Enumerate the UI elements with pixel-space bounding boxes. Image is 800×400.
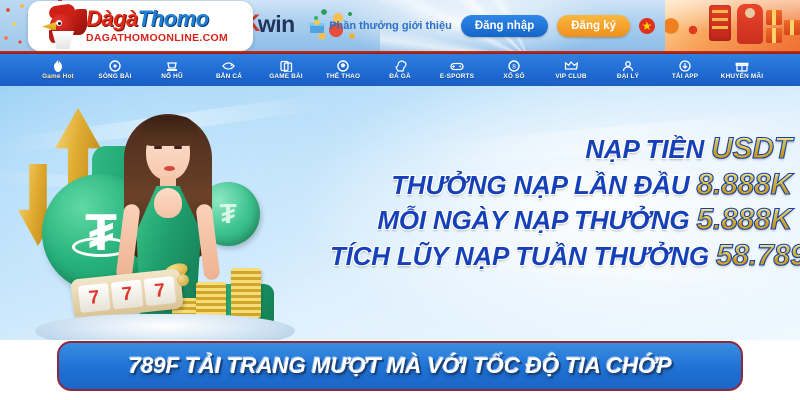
hero-banner: ₮ ₮ 7 7 7 N [0, 86, 800, 340]
tether-symbol: ₮ [219, 200, 236, 228]
main-navigation: Game Hot SÒNG BÀI NỔ HŨ BẮN CÁ GAME BÀI … [0, 54, 800, 86]
rooster-icon [33, 3, 85, 49]
nav-label: VIP CLUB [555, 73, 586, 80]
gold-coin-stack [231, 268, 261, 318]
nav-label: THỂ THAO [326, 73, 360, 80]
nav-item-no-hu[interactable]: NỔ HŨ [144, 54, 201, 86]
nav-item-e-sports[interactable]: E-SPORTS [429, 54, 486, 86]
nav-item-game-hot[interactable]: Game Hot [30, 54, 87, 86]
nav-item-game-bai[interactable]: GAME BÀI [258, 54, 315, 86]
register-button[interactable]: Đăng ký [557, 15, 630, 37]
slot-symbol: 7 [88, 287, 101, 307]
nav-item-da-ga[interactable]: ĐÁ GÀ [372, 54, 429, 86]
nav-label: NỔ HŨ [161, 73, 183, 80]
nav-item-khuyen-mai[interactable]: KHUYẾN MÃI [714, 54, 771, 86]
nav-item-song-bai[interactable]: SÒNG BÀI [87, 54, 144, 86]
fish-icon [222, 60, 236, 72]
promo-icon [735, 60, 749, 72]
site-logo[interactable]: DàgàThomo DAGATHOMOONLINE.COM [28, 1, 253, 51]
header-actions: Phần thưởng giới thiệu Đăng nhập Đăng ký [310, 0, 655, 52]
bottom-banner-title: 789F TẢI TRANG MƯỢT MÀ VỚI TỐC ĐỘ TIA CH… [129, 353, 672, 379]
logo-text-group: DàgàThomo DAGATHOMOONLINE.COM [86, 8, 228, 44]
gift-box-icon [784, 20, 800, 35]
nav-label: ĐẠI LÝ [617, 73, 639, 80]
slot-reel: 7 [111, 279, 144, 309]
nav-label: XỔ SỐ [503, 73, 524, 80]
referral-reward-link[interactable]: Phần thưởng giới thiệu [310, 20, 452, 33]
nav-label: E-SPORTS [440, 73, 474, 80]
nav-item-tai-app[interactable]: TẢI APP [657, 54, 714, 86]
zodiac-mascot-icon [737, 4, 763, 44]
promo-line-4-highlight: 58.789K [716, 239, 800, 272]
logo-wordmark: DàgàThomo [86, 8, 228, 30]
logo-wordmark-part2: Thomo [138, 6, 209, 31]
partner-brand-label: win [258, 11, 295, 38]
promo-line-1-highlight: USDT [711, 132, 792, 165]
cards-icon [279, 60, 293, 72]
login-button[interactable]: Đăng nhập [461, 15, 548, 37]
nav-label: TẢI APP [672, 73, 698, 80]
logo-wordmark-part1: Dàgà [86, 6, 138, 31]
gift-icon [310, 20, 324, 33]
bottom-title-banner: 789F TẢI TRANG MƯỢT MÀ VỚI TỐC ĐỘ TIA CH… [57, 341, 743, 391]
cockfight-icon [393, 60, 407, 72]
football-icon [336, 60, 350, 72]
promo-line-3: MỖI NGÀY NẠP THƯỞNG 5.888K [330, 203, 792, 237]
nav-label: Game Hot [42, 73, 74, 80]
slot-symbol: 7 [154, 281, 167, 301]
nav-label: BẮN CÁ [216, 73, 242, 80]
promo-line-1: NẠP TIỀN USDT [330, 132, 792, 166]
nav-item-vip-club[interactable]: VIP CLUB [543, 54, 600, 86]
promo-line-4-text: TÍCH LŨY NẠP TUẦN THƯỞNG [330, 241, 709, 271]
gamepad-icon [450, 60, 464, 72]
logo-domain: DAGATHOMOONLINE.COM [86, 33, 228, 44]
nav-label: GAME BÀI [269, 73, 303, 80]
nav-label: SÒNG BÀI [98, 73, 131, 80]
gold-coin-stack [196, 282, 226, 318]
fire-icon [51, 60, 65, 72]
gift-box-icon [766, 28, 782, 43]
gift-box-icon [766, 10, 782, 25]
promo-line-3-highlight: 5.888K [696, 203, 792, 236]
lottery-icon: 8 [507, 60, 521, 72]
promo-line-2-highlight: 8.888K [696, 168, 792, 201]
agent-icon [621, 60, 635, 72]
pedestal-graphic [35, 314, 295, 340]
promo-line-2: THƯỞNG NẠP LẦN ĐẦU 8.888K [330, 168, 792, 202]
promo-line-1-text: NẠP TIỀN [585, 134, 704, 164]
slot-reel: 7 [143, 276, 176, 306]
nav-label: KHUYẾN MÃI [721, 73, 763, 80]
nav-item-dai-ly[interactable]: ĐẠI LÝ [600, 54, 657, 86]
tet-decoration-right [665, 0, 800, 52]
casino-icon [108, 60, 122, 72]
svg-text:8: 8 [512, 64, 516, 71]
download-icon [678, 60, 692, 72]
referral-reward-label: Phần thưởng giới thiệu [329, 20, 452, 32]
promo-line-4: TÍCH LŨY NẠP TUẦN THƯỞNG 58.789K [330, 239, 792, 273]
promo-line-3-text: MỖI NGÀY NẠP THƯỞNG [377, 205, 689, 235]
nav-label: ĐÁ GÀ [389, 73, 411, 80]
jackpot-icon [165, 60, 179, 72]
site-header: K win DàgàThomo DAGATHOMOONLINE.COM [0, 0, 800, 52]
slot-symbol: 7 [121, 284, 134, 304]
promo-banner-page: K win DàgàThomo DAGATHOMOONLINE.COM [0, 0, 800, 400]
vietnam-flag-icon[interactable] [639, 18, 655, 34]
promo-line-2-text: THƯỞNG NẠP LẦN ĐẦU [391, 170, 689, 200]
nav-item-ban-ca[interactable]: BẮN CÁ [201, 54, 258, 86]
nav-item-the-thao[interactable]: THỂ THAO [315, 54, 372, 86]
nav-item-xo-so[interactable]: 8 XỔ SỐ [486, 54, 543, 86]
slot-reel: 7 [78, 282, 111, 312]
promo-text-block: NẠP TIỀN USDT THƯỞNG NẠP LẦN ĐẦU 8.888K … [330, 132, 798, 274]
tet-lantern-icon [709, 5, 731, 41]
crown-icon [564, 60, 578, 72]
